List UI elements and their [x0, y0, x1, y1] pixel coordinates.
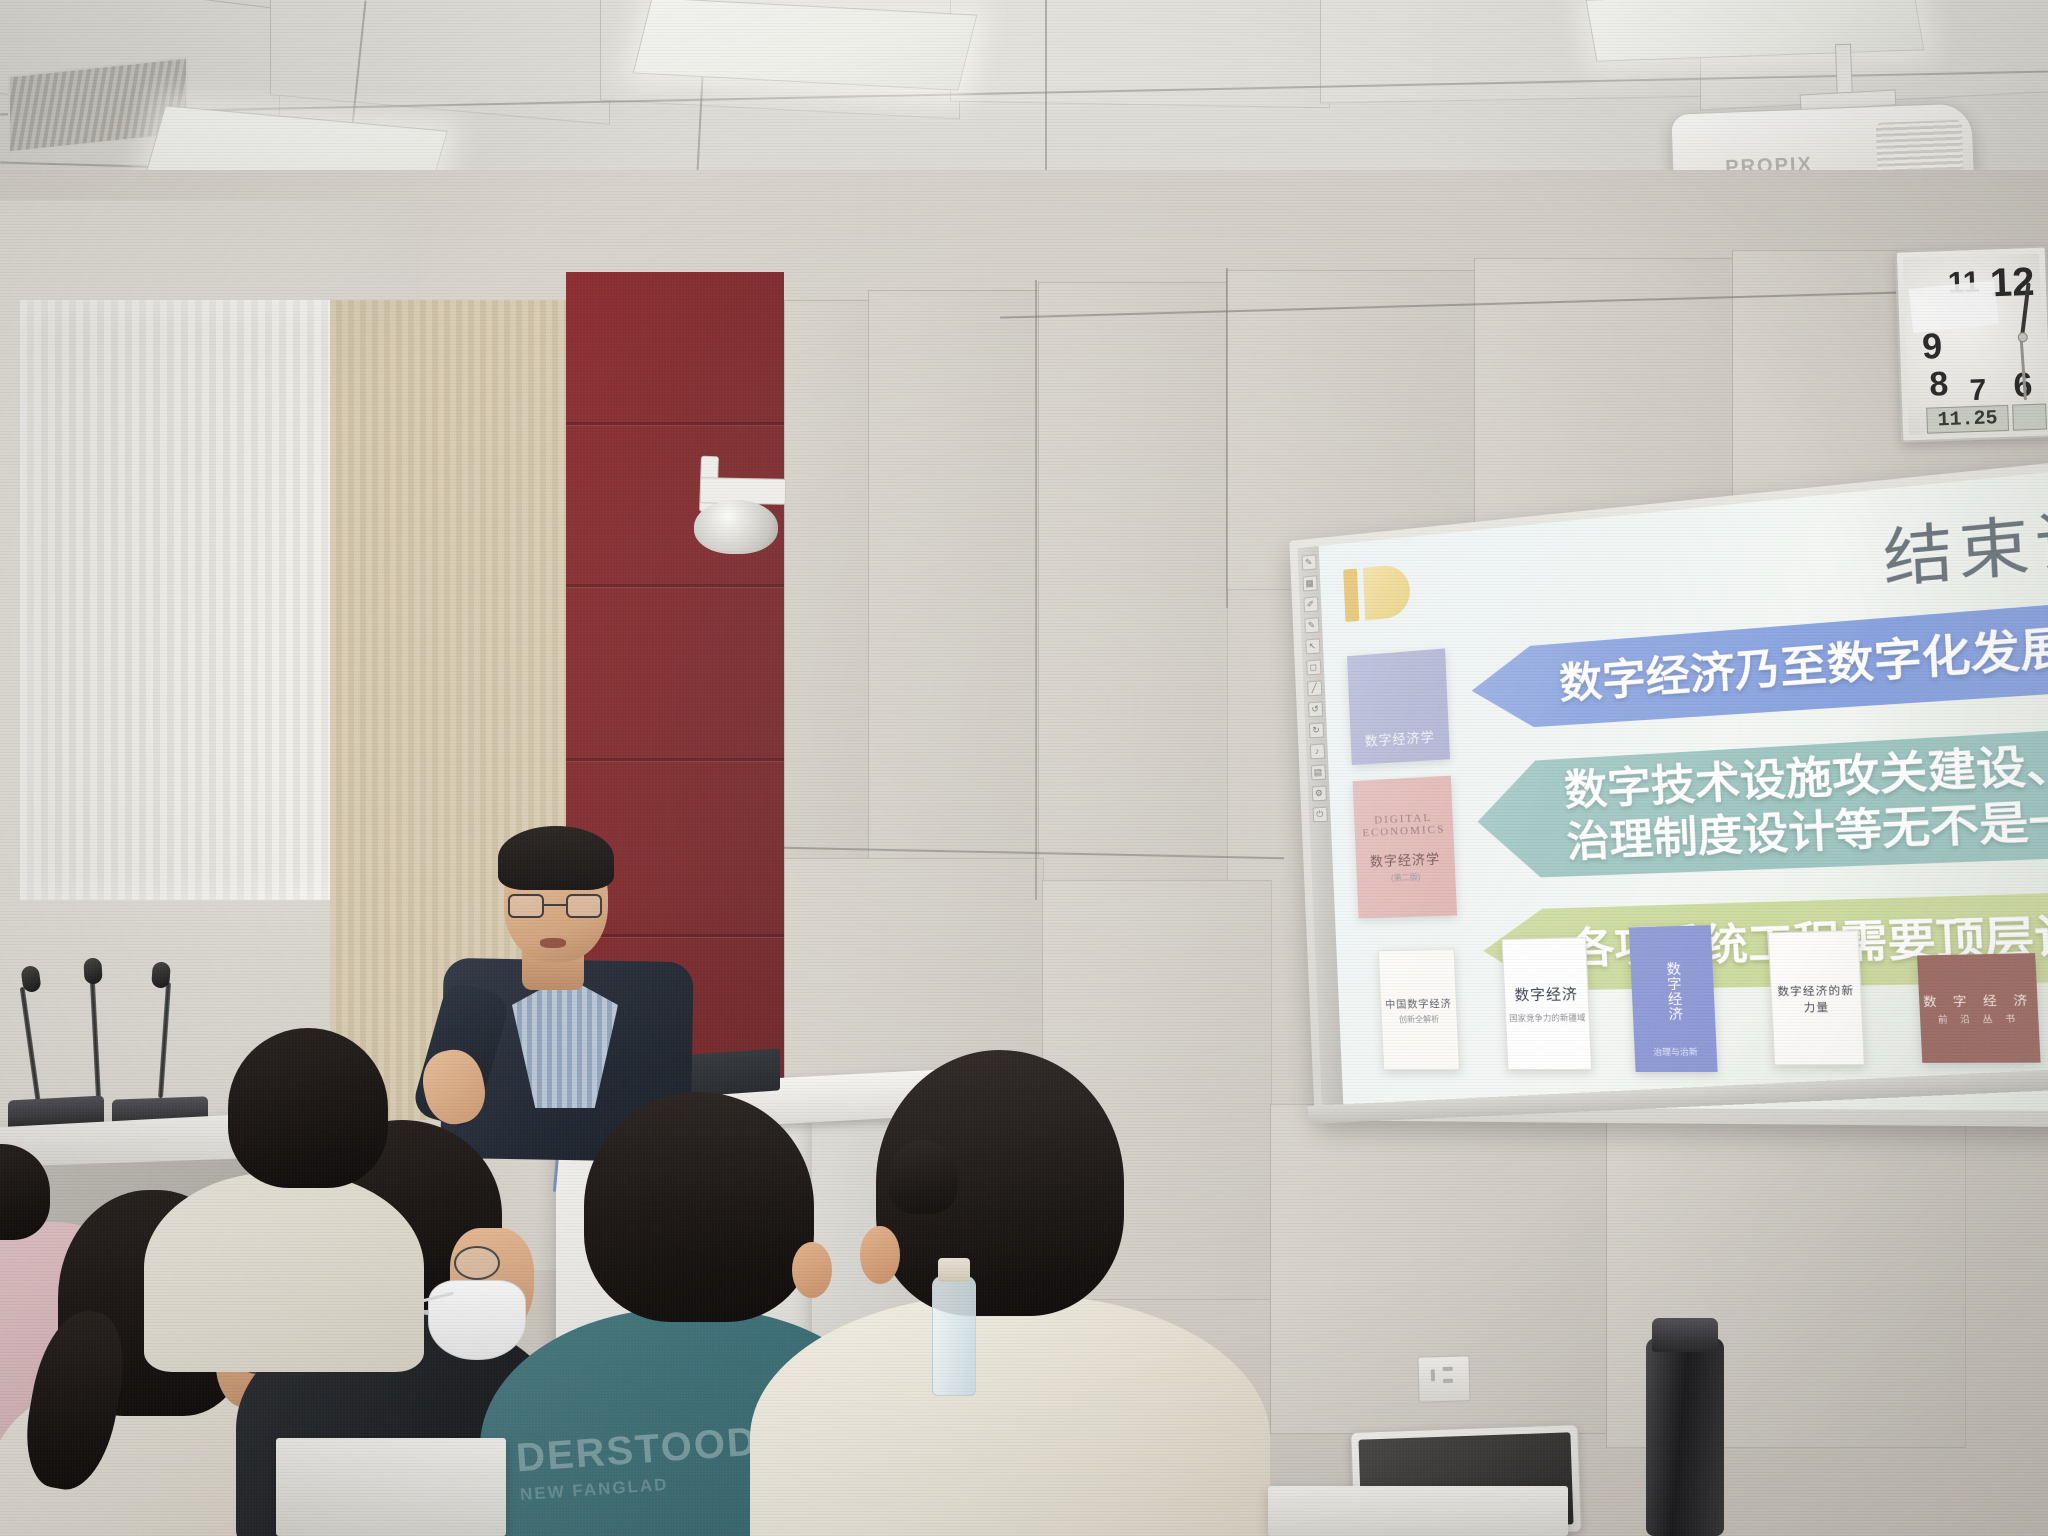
book-title: 数字经济: [1660, 940, 1686, 1043]
slide-bullet-2: 数字技术设施攻关建设、数据 治理制度设计等无不是一个: [1475, 722, 2048, 879]
interactive-whiteboard[interactable]: ✎ ▦ ✐ ✎ ↖ ◻ ╱ ↺ ↻ ♪ ▤ ⚙ ⏻: [1289, 454, 2048, 1128]
book-title-en: DIGITAL ECONOMICS: [1354, 810, 1453, 839]
water-bottle[interactable]: [932, 1276, 976, 1396]
speaker-glasses-bridge: [544, 904, 566, 906]
audience-ear: [860, 1226, 900, 1284]
speaker-glasses-left: [508, 894, 544, 918]
book-title: 数 字 经 济: [1923, 991, 2034, 1010]
book-subtitle: 治理与治新: [1653, 1046, 1698, 1058]
book-title: 中国数字经济: [1385, 994, 1452, 1010]
book-title: 数字经济学: [1369, 848, 1440, 870]
logo-d-icon: [1363, 563, 1411, 620]
book-title: 数字经济的新力量: [1771, 981, 1861, 1015]
audience-hair: [584, 1092, 814, 1322]
clock-face: 12 11 9 8 7 6 11.25: [1903, 254, 2045, 435]
audience-hair: [888, 1140, 958, 1214]
face-mask: [428, 1280, 526, 1360]
book-cover-bottom-5: 数 字 经 济 前 沿 丛 书: [1917, 953, 2041, 1063]
book-title: 数字经济: [1514, 984, 1578, 1006]
book-subtitle: 创新全解析: [1399, 1013, 1440, 1025]
audience-hair: [228, 1028, 388, 1188]
book-cover-bottom-3: 数字经济 治理与治新: [1629, 925, 1718, 1072]
book-subtitle: 前 沿 丛 书: [1938, 1013, 2021, 1026]
audience-ear: [792, 1242, 832, 1298]
wall-panel: [868, 290, 1040, 890]
book-subtitle: 国家竞争力的新疆域: [1509, 1012, 1586, 1024]
clock-digital-display: 11.25: [1926, 405, 2009, 434]
power-outlet[interactable]: [1417, 1355, 1470, 1402]
book-subtitle: (第二版): [1391, 871, 1421, 883]
book-cover-bottom-4: 数字经济的新力量: [1768, 930, 1865, 1065]
book-cover-bottom-2: 数字经济 国家竞争力的新疆域: [1502, 937, 1593, 1070]
clock-hub: [2018, 332, 2028, 342]
slide-bullet-2-text: 数字技术设施攻关建设、数据 治理制度设计等无不是一个: [1563, 732, 2048, 869]
projection-surface[interactable]: ✎ ▦ ✐ ✎ ↖ ◻ ╱ ↺ ↻ ♪ ▤ ⚙ ⏻: [1297, 464, 2048, 1111]
water-bottle-cap[interactable]: [938, 1258, 970, 1282]
microphone-head-2: [83, 958, 102, 985]
slide-title: 结束语: [1881, 484, 2048, 600]
presentation-slide: 结束语 数字经济乃至数字化发展还在 数字技术设施攻关建设、数据 治理制度设计等无…: [1297, 464, 2048, 1111]
audience-glasses: [454, 1246, 500, 1280]
clock-digital-secondary: [2012, 404, 2047, 431]
book-cover-bottom-1: 中国数字经济 创新全解析: [1378, 949, 1460, 1071]
wall-panel: [784, 300, 870, 860]
audience-desk: [1268, 1486, 1568, 1536]
book-cover-left-1: 数字经济学: [1347, 648, 1450, 765]
speaker-hair: [498, 826, 614, 890]
slide-bullet-1-text: 数字经济乃至数字化发展还在: [1558, 612, 2048, 710]
speaker-mouth: [540, 938, 566, 948]
logo-bar-icon: [1343, 568, 1359, 622]
audience-desk-left: [276, 1438, 506, 1536]
slide-bullet-1: 数字经济乃至数字化发展还在: [1470, 594, 2048, 731]
black-thermos[interactable]: [1646, 1338, 1724, 1536]
book-cover-left-2: DIGITAL ECONOMICS 数字经济学 (第二版): [1353, 776, 1458, 919]
window-vertical-blind: [20, 300, 350, 900]
wall-panel: [1038, 282, 1228, 902]
clock-numeral-8: 8: [1929, 365, 1949, 405]
speaker-glasses-right: [566, 894, 602, 918]
lecture-hall-scene: PROPIX 12 11 9 8 7 6: [0, 0, 2048, 1536]
wall-clock: 12 11 9 8 7 6 11.25: [1895, 245, 2048, 442]
clock-glass-glare: [1909, 280, 1999, 333]
clock-numeral-7: 7: [1969, 374, 1987, 409]
slide-logo: [1343, 563, 1411, 622]
thermos-cap[interactable]: [1652, 1318, 1718, 1352]
book-title: 数字经济学: [1364, 726, 1435, 750]
audience-shoulder: [144, 1172, 424, 1372]
security-camera-dome: [694, 500, 778, 554]
